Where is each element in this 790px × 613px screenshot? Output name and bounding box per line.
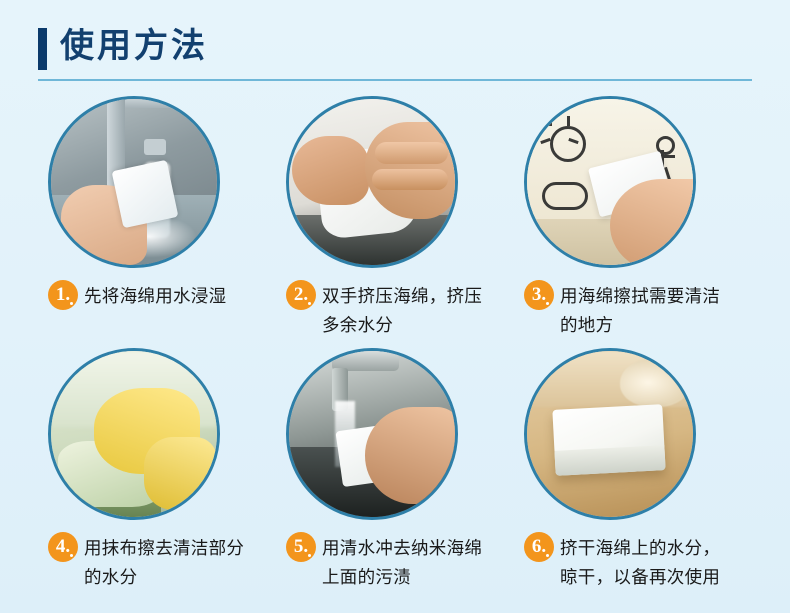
- step-1-text: 先将海绵用水浸湿: [84, 282, 276, 311]
- step-6-text: 挤干海绵上的水分， 晾干，以备再次使用: [560, 534, 752, 592]
- step-6-photo: [524, 348, 696, 520]
- step-2-caption: 2. 双手挤压海绵，挤压 多余水分: [276, 282, 514, 340]
- page-header: 使用方法: [38, 22, 752, 80]
- step-1-number: 1.: [48, 280, 78, 310]
- step-item: 2. 双手挤压海绵，挤压 多余水分: [276, 96, 514, 340]
- header-divider: [38, 79, 752, 81]
- step-item: 6. 挤干海绵上的水分， 晾干，以备再次使用: [514, 348, 752, 592]
- step-5-photo: [286, 348, 458, 520]
- step-5-number: 5.: [286, 532, 316, 562]
- hands-squeezing-sponge-icon: [289, 99, 455, 265]
- step-5-text: 用清水冲去纳米海绵 上面的污渍: [322, 534, 514, 592]
- step-item: 4. 用抹布擦去清洁部分 的水分: [38, 348, 276, 592]
- step-4-photo: [48, 348, 220, 520]
- step-4-text: 用抹布擦去清洁部分 的水分: [84, 534, 276, 592]
- sponge-under-faucet-icon: [51, 99, 217, 265]
- rinsing-sponge-icon: [289, 351, 455, 517]
- step-3-photo: [524, 96, 696, 268]
- step-3-text: 用海绵擦拭需要清洁 的地方: [560, 282, 752, 340]
- step-2-photo: [286, 96, 458, 268]
- title-accent-bar: [38, 28, 47, 70]
- gloved-hand-with-cloth-icon: [51, 351, 217, 517]
- step-3-caption: 3. 用海绵擦拭需要清洁 的地方: [514, 282, 752, 340]
- step-2-number: 2.: [286, 280, 316, 310]
- steps-grid: 1. 先将海绵用水浸湿 2. 双手挤压海绵，挤压 多余水分: [38, 96, 752, 596]
- step-6-number: 6.: [524, 532, 554, 562]
- usage-instructions-page: 使用方法 1. 先将海绵用水浸湿: [0, 0, 790, 613]
- step-2-text: 双手挤压海绵，挤压 多余水分: [322, 282, 514, 340]
- step-6-caption: 6. 挤干海绵上的水分， 晾干，以备再次使用: [514, 534, 752, 592]
- sponge-block-on-board-icon: [527, 351, 693, 517]
- step-3-number: 3.: [524, 280, 554, 310]
- step-item: 1. 先将海绵用水浸湿: [38, 96, 276, 322]
- step-1-photo: [48, 96, 220, 268]
- step-5-caption: 5. 用清水冲去纳米海绵 上面的污渍: [276, 534, 514, 592]
- step-item: 3. 用海绵擦拭需要清洁 的地方: [514, 96, 752, 340]
- step-item: 5. 用清水冲去纳米海绵 上面的污渍: [276, 348, 514, 592]
- step-1-caption: 1. 先将海绵用水浸湿: [38, 282, 276, 322]
- step-4-caption: 4. 用抹布擦去清洁部分 的水分: [38, 534, 276, 592]
- sponge-wiping-wall-icon: [527, 99, 693, 265]
- page-title: 使用方法: [60, 22, 208, 70]
- step-4-number: 4.: [48, 532, 78, 562]
